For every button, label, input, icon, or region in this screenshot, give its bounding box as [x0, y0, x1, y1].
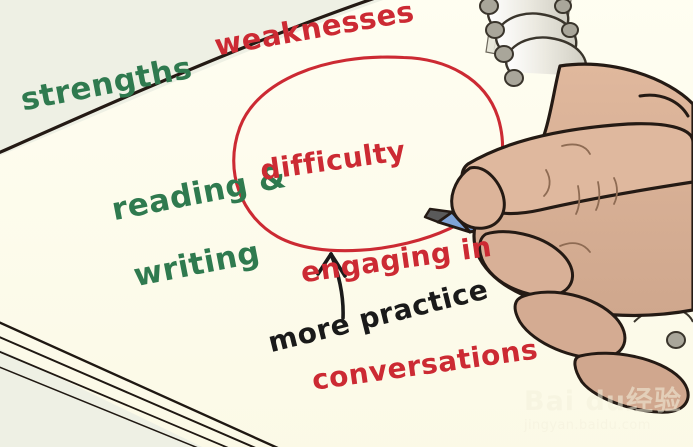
notebook-illustration: [0, 0, 693, 447]
illustration-canvas: strengths reading & writing weaknesses d…: [0, 0, 693, 447]
